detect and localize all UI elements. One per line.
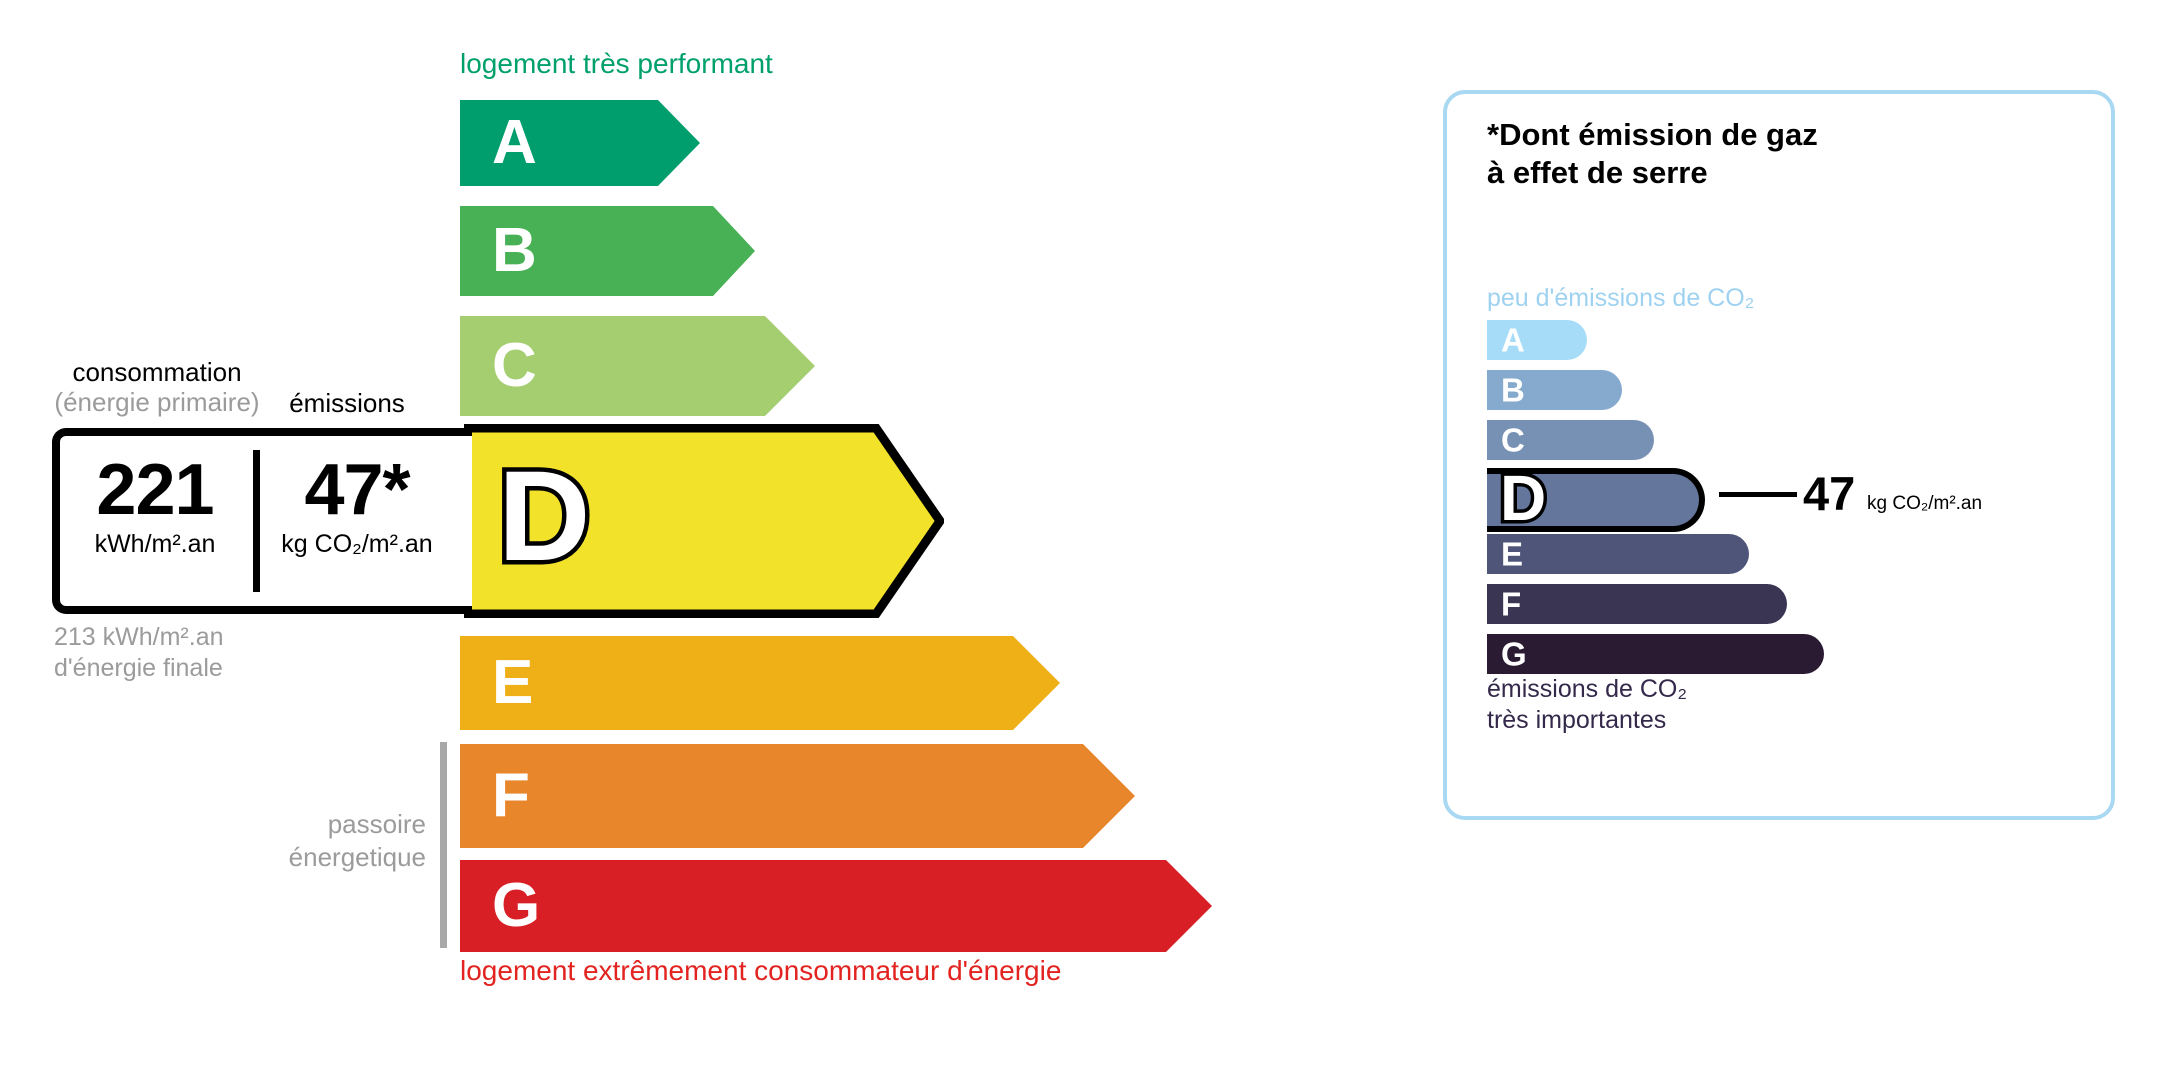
emissions-unit: kg CO₂/m².an (262, 530, 452, 559)
co2-callout-unit: kg CO₂/m².an (1867, 494, 1982, 513)
co2-bar-e[interactable]: E (1487, 534, 1749, 574)
co2-panel-title: *Dont émission de gaz à effet de serre (1487, 116, 1818, 192)
co2-bar-g[interactable]: G (1487, 634, 1824, 674)
energy-band-a[interactable]: A (460, 100, 700, 186)
consumption-label: consommation (énergie primaire) (52, 358, 262, 418)
final-energy-note: 213 kWh/m².an d'énergie finale (54, 622, 224, 685)
value-box: 221 kWh/m².an 47* kg CO₂/m².an (52, 428, 472, 614)
band-a-shape (460, 100, 700, 186)
co2-title-line1: *Dont émission de gaz (1487, 116, 1818, 154)
co2-title-line2: à effet de serre (1487, 154, 1818, 192)
co2-callout-line (1719, 492, 1797, 497)
energy-band-e[interactable]: E (460, 636, 1060, 730)
band-f-shape (460, 744, 1135, 848)
co2-bar-g-letter: G (1501, 638, 1527, 671)
co2-emissions-panel: *Dont émission de gaz à effet de serre p… (1443, 90, 2115, 820)
co2-bar-c[interactable]: C (1487, 420, 1654, 460)
svg-text:D: D (1500, 467, 1546, 533)
co2-bar-f[interactable]: F (1487, 584, 1787, 624)
energy-band-c[interactable]: C (460, 316, 815, 416)
co2-bar-e-letter: E (1501, 538, 1523, 571)
co2-top-caption: peu d'émissions de CO₂ (1487, 284, 1754, 313)
co2-bar-d-selected[interactable]: D (1487, 468, 1705, 532)
energy-performance-scale: logement très performant A B C (0, 0, 1340, 1079)
poor-performance-label: passoire énergetique (230, 808, 426, 873)
band-c-shape (460, 316, 815, 416)
emissions-value-cell: 47* kg CO₂/m².an (262, 454, 452, 559)
energy-band-b[interactable]: B (460, 206, 755, 296)
band-d-shape (464, 424, 944, 618)
co2-bar-a-letter: A (1501, 324, 1525, 357)
band-g-shape (460, 860, 1212, 952)
co2-bar-b-letter: B (1501, 374, 1525, 407)
co2-bottom-caption: émissions de CO₂ très importantes (1487, 674, 1687, 735)
emissions-label: émissions (272, 388, 422, 419)
poor-performance-marker (440, 742, 447, 948)
energy-band-d-selected[interactable]: D (464, 424, 944, 618)
co2-bar-d-letter: D (1497, 467, 1553, 533)
final-energy-line2: d'énergie finale (54, 653, 224, 684)
consumption-value: 221 (60, 454, 250, 526)
co2-callout-value: 47 (1803, 470, 1855, 517)
scale-top-caption: logement très performant (460, 48, 773, 80)
consumption-label-line1: consommation (52, 358, 262, 388)
co2-bar-b[interactable]: B (1487, 370, 1622, 410)
final-energy-line1: 213 kWh/m².an (54, 622, 224, 653)
band-e-shape (460, 636, 1060, 730)
dpe-diagram: logement très performant A B C (0, 0, 2169, 1079)
band-b-shape (460, 206, 755, 296)
co2-bar-c-letter: C (1501, 424, 1525, 457)
energy-band-f[interactable]: F (460, 744, 1135, 848)
consumption-unit: kWh/m².an (60, 530, 250, 559)
co2-bar-f-letter: F (1501, 588, 1521, 621)
scale-bottom-caption: logement extrêmement consommateur d'éner… (460, 955, 1061, 987)
co2-bottom-caption-line1: émissions de CO₂ (1487, 674, 1687, 705)
energy-band-g[interactable]: G (460, 860, 1212, 952)
consumption-value-cell: 221 kWh/m².an (60, 454, 250, 559)
co2-bottom-caption-line2: très importantes (1487, 705, 1687, 736)
value-box-divider (253, 450, 260, 592)
poor-performance-label-line1: passoire (230, 808, 426, 841)
emissions-value: 47* (262, 454, 452, 526)
consumption-label-line2: (énergie primaire) (52, 388, 262, 418)
co2-bar-a[interactable]: A (1487, 320, 1587, 360)
poor-performance-label-line2: énergetique (230, 841, 426, 874)
